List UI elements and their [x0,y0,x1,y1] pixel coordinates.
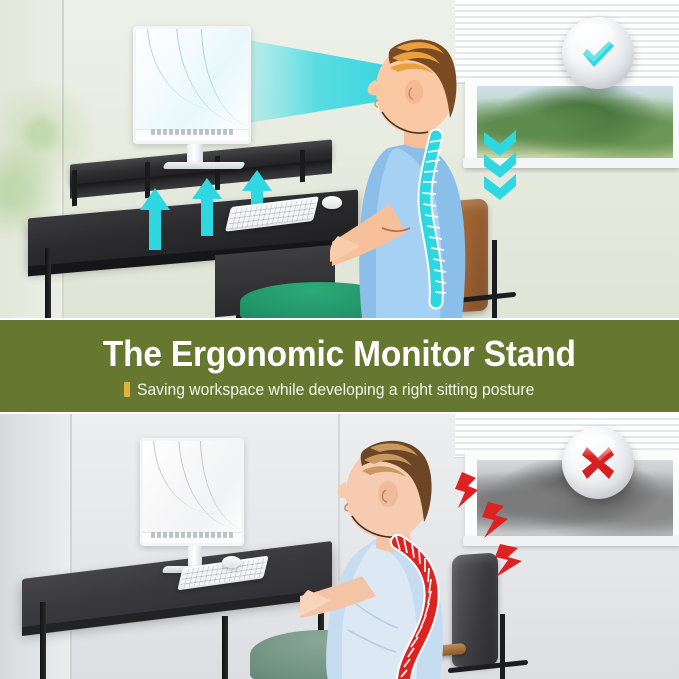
page-title: The Ergonomic Monitor Stand [103,334,576,374]
check-glyph [575,30,621,76]
banner-subtitle-row: Saving workspace while developing a righ… [124,381,555,399]
macos-dock-top [143,128,242,137]
monitor-screen-top [133,26,251,144]
monitor-neck-top [187,144,203,164]
imac-monitor-top [133,26,251,144]
banner: The Ergonomic Monitor Stand Saving works… [0,320,679,412]
mouse-bottom [222,556,241,568]
stand-leg-1 [72,170,77,206]
gold-bar-icon [124,382,130,397]
desk-leg-bottom-left [40,602,46,679]
wall-corner-edge-bottom [70,414,72,679]
macos-dock-bottom [149,531,235,539]
x-glyph [575,440,621,486]
person-good-posture [330,18,540,318]
desk-leg-bottom-mid [222,616,228,679]
x-mark-badge-icon [562,427,634,499]
stand-leg-4 [300,150,305,182]
person-bad-posture [300,424,530,679]
lift-arrow-2 [192,178,222,236]
monitor-foot-top [162,162,245,169]
desk-leg-left [45,248,51,318]
product-infographic: The Ergonomic Monitor Stand Saving works… [0,0,679,679]
lift-arrow-1 [140,188,170,250]
checkmark-badge-icon [562,17,634,89]
imac-monitor-bottom [140,438,244,546]
page-subtitle: Saving workspace while developing a righ… [137,381,534,399]
panel-bad-posture [0,414,679,679]
monitor-screen-bottom [140,438,244,546]
panel-good-posture [0,0,679,318]
